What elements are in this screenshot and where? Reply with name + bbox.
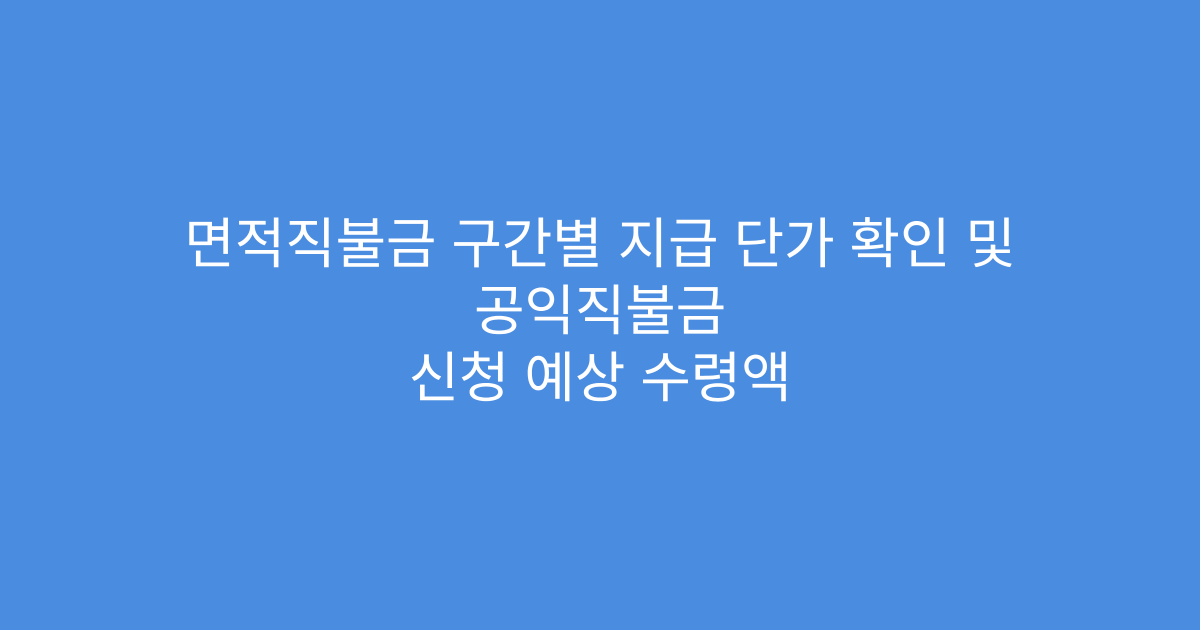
og-share-card: 면적직불금 구간별 지급 단가 확인 및 공익직불금 신청 예상 수령액 <box>0 0 1200 630</box>
page-title: 면적직불금 구간별 지급 단가 확인 및 공익직불금 신청 예상 수령액 <box>60 211 1140 412</box>
page-title-line-1: 면적직불금 구간별 지급 단가 확인 및 공익직불금 <box>60 211 1140 345</box>
page-title-line-2: 신청 예상 수령액 <box>60 345 1140 412</box>
title-block: 면적직불금 구간별 지급 단가 확인 및 공익직불금 신청 예상 수령액 <box>40 211 1160 412</box>
